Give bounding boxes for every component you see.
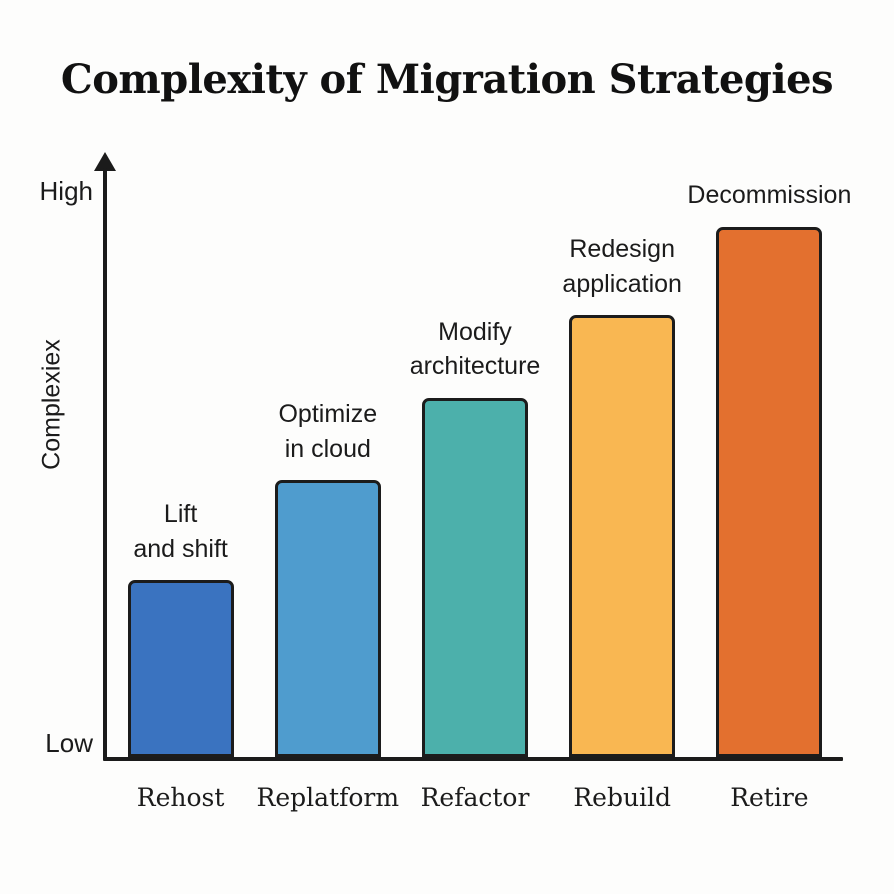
bar-annotation-line: and shift	[133, 532, 228, 567]
bar-group: Optimizein cloud	[275, 168, 381, 757]
bar-annotation-line: Modify	[410, 315, 541, 350]
x-axis-tick-refactor: Refactor	[421, 783, 530, 812]
bar-group: Liftand shift	[128, 168, 234, 757]
bar-annotation-retire: Decommission	[687, 178, 851, 213]
bar-annotation-line: application	[562, 267, 682, 302]
x-axis-tick-retire: Retire	[730, 783, 808, 812]
bar-annotation-line: architecture	[410, 349, 541, 384]
bar-rehost[interactable]	[128, 580, 234, 757]
bar-rebuild[interactable]	[569, 315, 675, 757]
y-axis-tick-high-label: High	[40, 176, 93, 207]
bar-annotation-line: Lift	[133, 497, 228, 532]
bar-annotation-replatform: Optimizein cloud	[278, 397, 377, 466]
bar-refactor[interactable]	[422, 398, 528, 757]
plot-area: Liftand shiftOptimizein cloudModifyarchi…	[107, 168, 843, 757]
bar-retire[interactable]	[716, 227, 822, 757]
bar-annotation-rehost: Liftand shift	[133, 497, 228, 566]
bar-annotation-line: Redesign	[562, 232, 682, 267]
chart-title: Complexity of Migration Strategies	[0, 56, 894, 103]
bar-annotation-line: in cloud	[278, 432, 377, 467]
bar-annotation-line: Decommission	[687, 178, 851, 213]
x-axis-line	[103, 757, 843, 761]
bar-group: Decommission	[716, 168, 822, 757]
y-axis-tick-low-label: Low	[45, 728, 93, 759]
bar-annotation-rebuild: Redesignapplication	[562, 232, 682, 301]
bar-annotation-refactor: Modifyarchitecture	[410, 315, 541, 384]
bar-chart: Complexity of Migration Strategies High …	[0, 0, 894, 894]
bar-group: Redesignapplication	[569, 168, 675, 757]
x-axis-tick-replatform: Replatform	[257, 783, 400, 812]
bar-replatform[interactable]	[275, 480, 381, 757]
bar-annotation-line: Optimize	[278, 397, 377, 432]
y-axis-title: Complexiex	[38, 315, 67, 495]
bar-group: Modifyarchitecture	[422, 168, 528, 757]
x-axis-tick-rehost: Rehost	[137, 783, 225, 812]
x-axis-tick-rebuild: Rebuild	[573, 783, 671, 812]
